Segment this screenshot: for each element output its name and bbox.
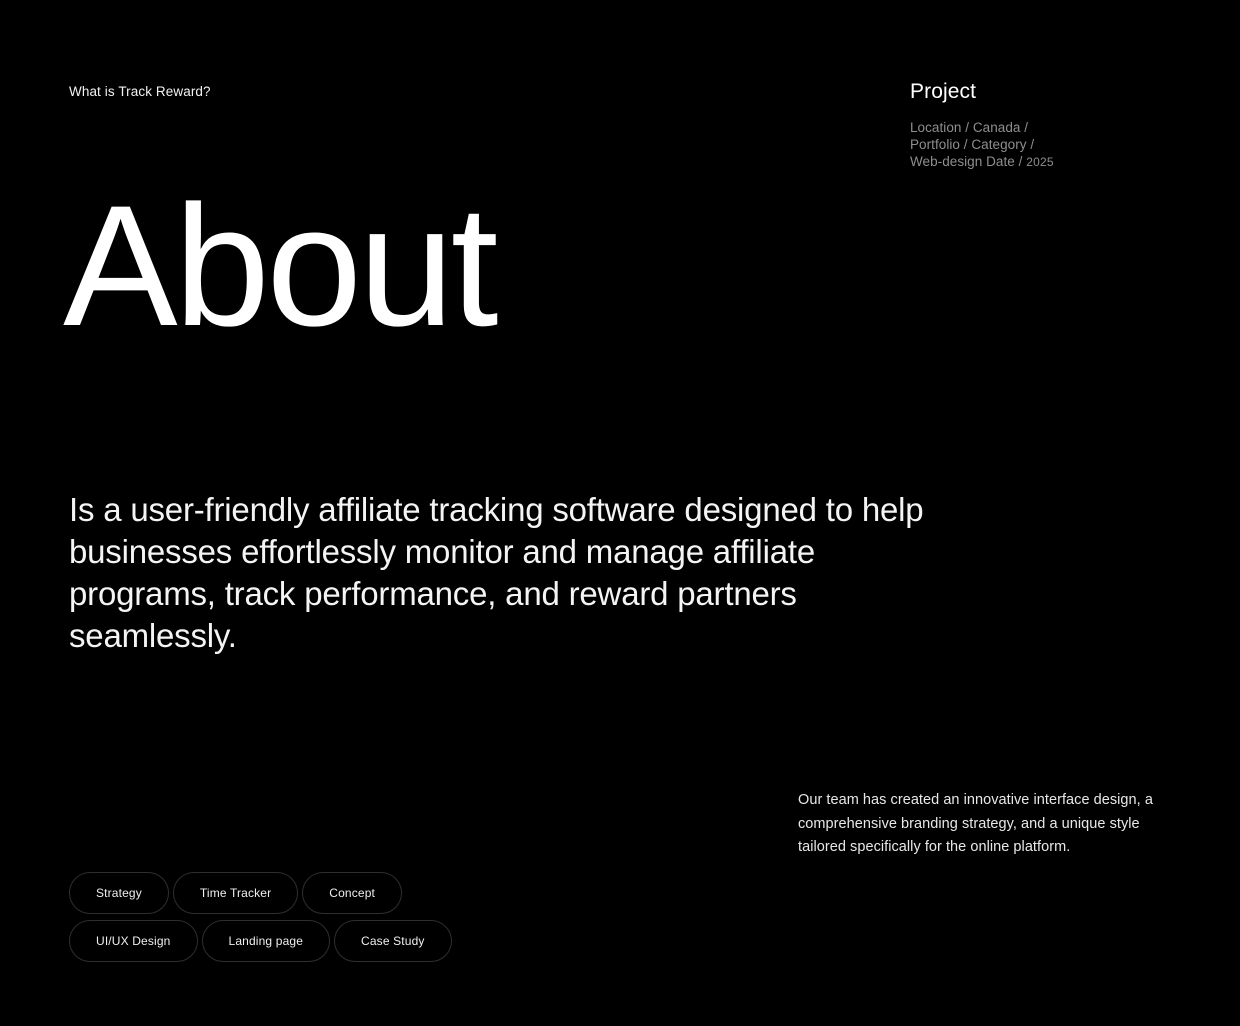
tag-pill-ui-ux-design[interactable]: UI/UX Design — [69, 920, 198, 962]
page-title: About — [63, 180, 495, 352]
project-meta-list: Location / Canada / Portfolio / Category… — [910, 119, 1210, 171]
project-info-block: Project Location / Canada / Portfolio / … — [910, 80, 1210, 171]
tag-row: UI/UX Design Landing page Case Study — [69, 920, 452, 962]
project-heading: Project — [910, 80, 1210, 104]
tag-pill-strategy[interactable]: Strategy — [69, 872, 169, 914]
project-meta-date-label: Web-design Date / — [910, 154, 1026, 169]
lead-paragraph: Is a user-friendly affiliate tracking so… — [69, 489, 959, 657]
tag-row: Strategy Time Tracker Concept — [69, 872, 402, 914]
tag-pill-landing-page[interactable]: Landing page — [202, 920, 331, 962]
project-meta-line-portfolio: Portfolio / Category / — [910, 136, 1210, 153]
project-meta-line-location: Location / Canada / — [910, 119, 1210, 136]
secondary-paragraph: Our team has created an innovative inter… — [798, 789, 1178, 860]
tag-pill-concept[interactable]: Concept — [302, 872, 402, 914]
tag-pill-case-study[interactable]: Case Study — [334, 920, 452, 962]
tag-pill-time-tracker[interactable]: Time Tracker — [173, 872, 298, 914]
about-page: What is Track Reward? Project Location /… — [0, 0, 1240, 1026]
project-meta-year: 2025 — [1026, 155, 1054, 169]
tag-list: Strategy Time Tracker Concept UI/UX Desi… — [69, 872, 569, 962]
eyebrow-label: What is Track Reward? — [69, 84, 211, 100]
project-meta-line-date: Web-design Date / 2025 — [910, 153, 1210, 171]
